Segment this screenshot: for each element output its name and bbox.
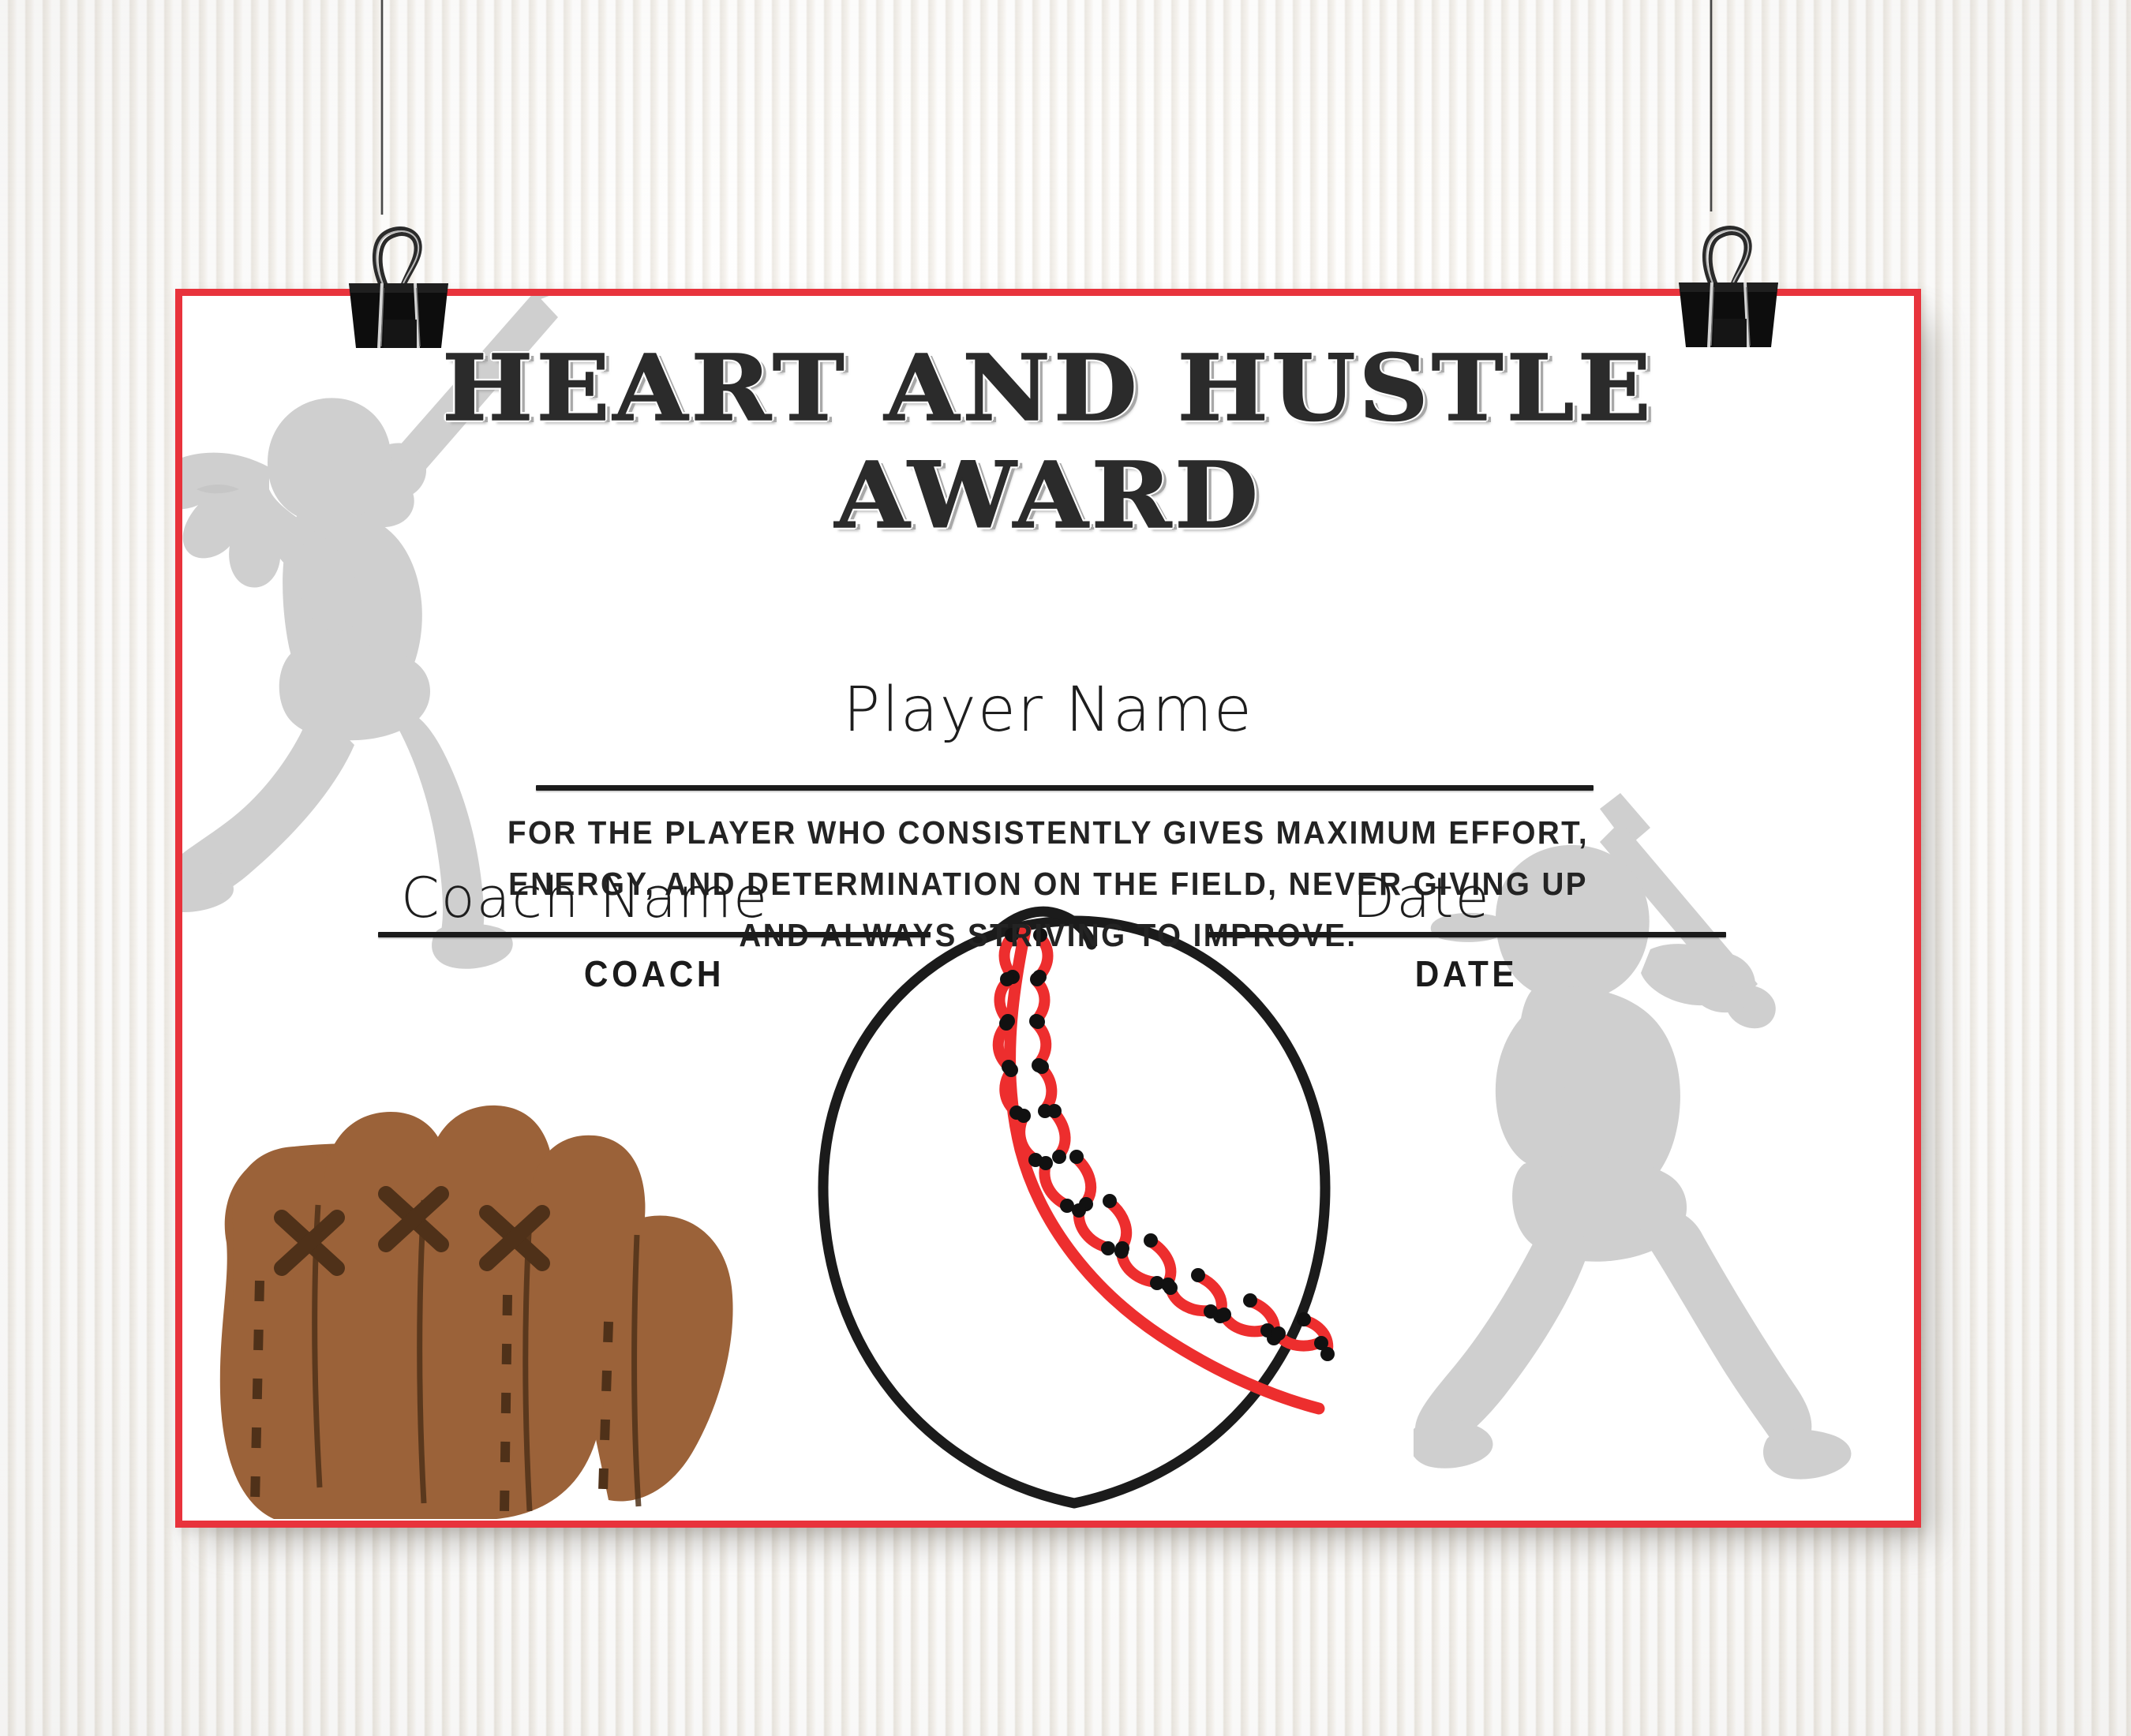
certificate-poster: HEART AND HUSTLE AWARD Player Name FOR T… xyxy=(175,289,1921,1528)
date-label: DATE xyxy=(1227,952,1705,995)
binder-clip-left xyxy=(331,201,466,355)
scene-backdrop: HEART AND HUSTLE AWARD Player Name FOR T… xyxy=(0,0,2131,1736)
date-signature-rule xyxy=(1207,932,1726,937)
coach-name-field[interactable]: Coach Name xyxy=(230,866,940,930)
hanging-string-right xyxy=(1710,0,1713,211)
date-field[interactable]: Date xyxy=(1153,866,1690,930)
binder-clip-right xyxy=(1661,197,1796,355)
description-line-1: FOR THE PLAYER WHO CONSISTENTLY GIVES MA… xyxy=(287,807,1811,859)
player-name-field[interactable]: Player Name xyxy=(182,675,1914,746)
coach-signature-rule xyxy=(378,932,931,937)
hanging-string-left xyxy=(380,0,384,215)
player-name-rule xyxy=(536,785,1594,791)
coach-label: COACH xyxy=(400,952,908,995)
award-title-line-2: AWARD xyxy=(175,443,1921,549)
certificate-text-layer: HEART AND HUSTLE AWARD Player Name FOR T… xyxy=(182,296,1914,1521)
